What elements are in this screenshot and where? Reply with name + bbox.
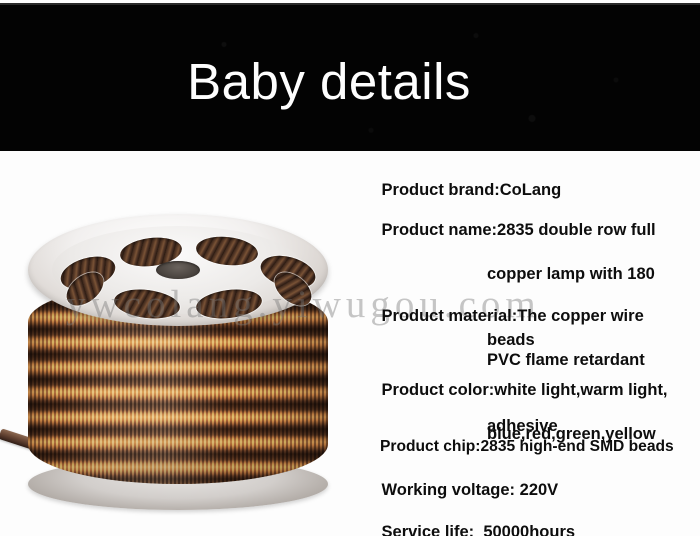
spec-color-line1: Product color:white light,warm light,	[382, 381, 668, 399]
spec-material-line1: Product material:The copper wire	[382, 307, 644, 325]
spec-name-line2: copper lamp with 180	[354, 263, 700, 285]
page-title: Baby details	[0, 53, 700, 111]
reel-top-flange	[28, 214, 328, 326]
reel-hub-hole	[156, 261, 200, 279]
spec-row-service-life: Service life: 50000hours	[354, 499, 700, 536]
product-detail-page: Baby details ywcolang	[0, 0, 700, 536]
spec-service-line1: Service life: 50000hours	[382, 523, 576, 536]
reel-graphic	[8, 196, 348, 516]
spec-name-line1: Product name:2835 double row full	[382, 221, 656, 239]
spec-chip-line1: Product chip:2835 high-end SMD beads	[380, 438, 674, 455]
header-banner: Baby details	[0, 3, 700, 151]
spec-voltage-line1: Working voltage: 220V	[382, 481, 559, 499]
product-image-led-strip-reel	[8, 196, 348, 516]
